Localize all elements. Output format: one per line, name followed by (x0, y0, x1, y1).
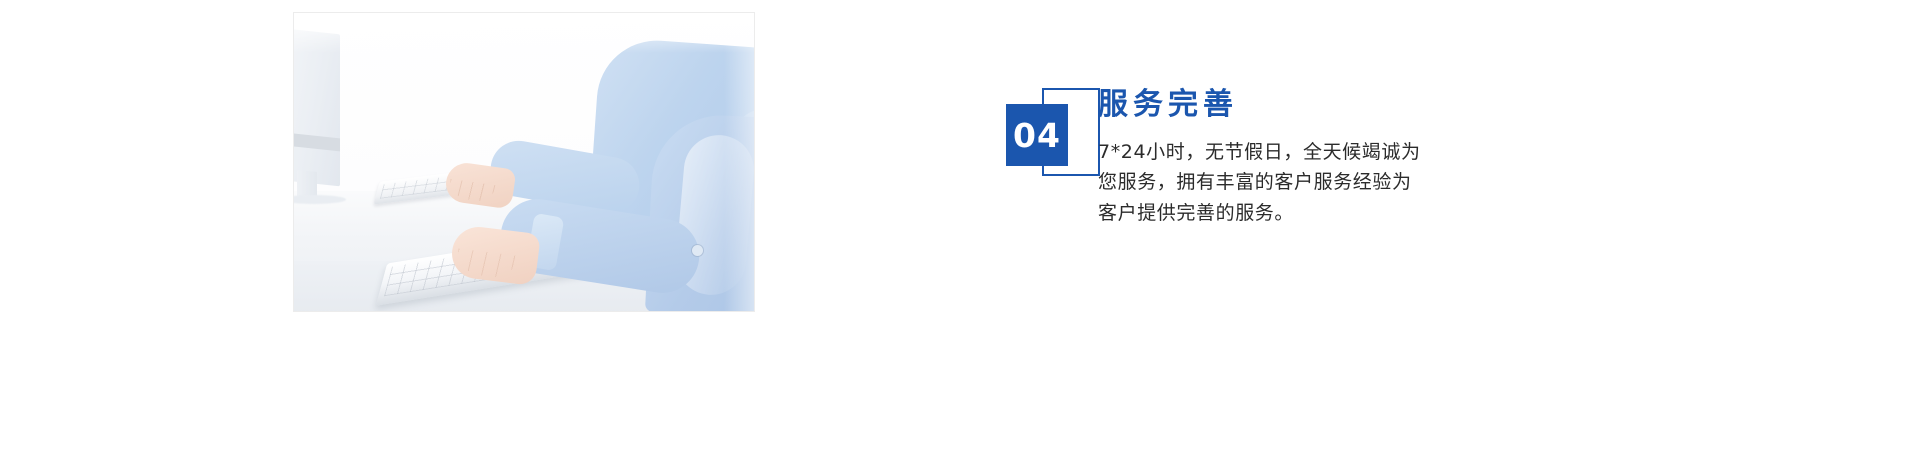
feature-headline: 服务完善 (1098, 88, 1518, 123)
person-front-sleeve-button (692, 245, 703, 256)
description-line-1: 7*24小时，无节假日，全天候竭诚为 (1098, 137, 1518, 168)
badge-number: 04 (1013, 119, 1061, 152)
step-badge: 04 (1006, 88, 1102, 194)
photo-highlight-right (724, 13, 754, 311)
feature-section: 04 服务完善 7*24小时，无节假日，全天候竭诚为 您服务，拥有丰富的客户服务… (0, 0, 1920, 452)
description-line-3: 客户提供完善的服务。 (1098, 198, 1518, 229)
feature-description: 7*24小时，无节假日，全天候竭诚为 您服务，拥有丰富的客户服务经验为 客户提供… (1098, 137, 1518, 229)
badge-filled-square: 04 (1006, 104, 1068, 166)
photo-highlight-top (294, 13, 754, 53)
photo-canvas (294, 13, 754, 311)
feature-text-block: 服务完善 7*24小时，无节假日，全天候竭诚为 您服务，拥有丰富的客户服务经验为… (1098, 88, 1518, 229)
description-line-2: 您服务，拥有丰富的客户服务经验为 (1098, 167, 1518, 198)
feature-photo (293, 12, 755, 312)
